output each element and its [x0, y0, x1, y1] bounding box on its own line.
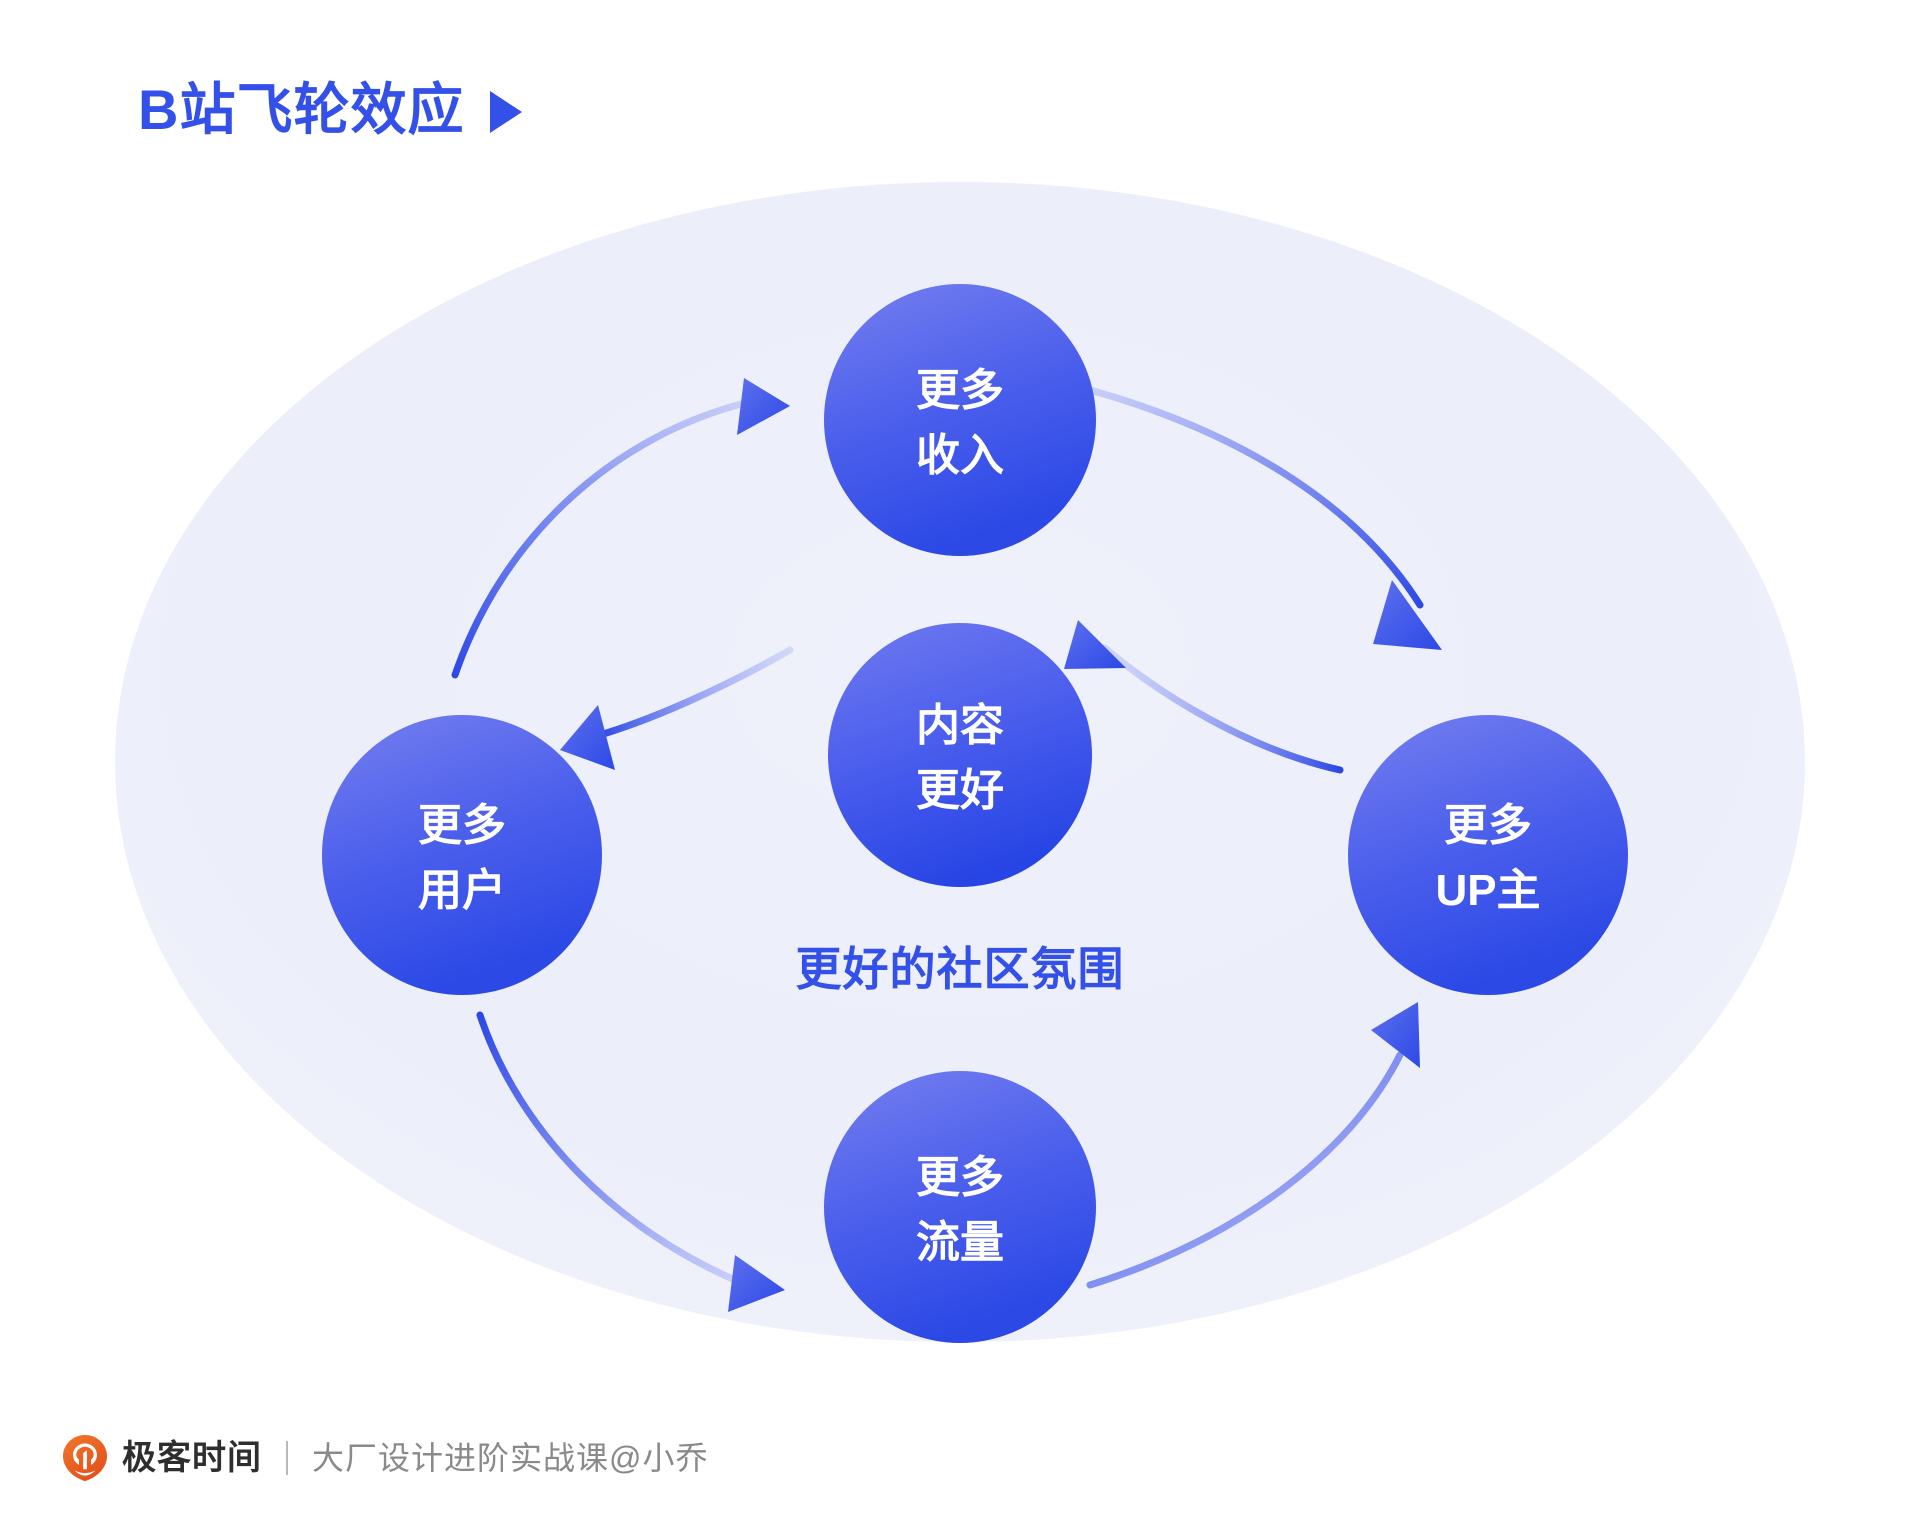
node-creators-line1: 更多 [1444, 801, 1532, 850]
node-content[interactable]: 内容 更好 [828, 623, 1092, 887]
footer-course-name: 大厂设计进阶实战课@小乔 [312, 1442, 709, 1474]
brand-name: 极客时间 [122, 1441, 262, 1475]
triangle-right-icon [490, 91, 522, 133]
flywheel-diagram: 更多 收入 内容 更好 更多 用户 更多 UP主 更多 流量 更好的社区氛围 [0, 150, 1920, 1380]
node-users-line1: 更多 [418, 801, 506, 850]
node-users[interactable]: 更多 用户 [322, 715, 602, 995]
geekbang-pin-logo-icon [62, 1434, 108, 1482]
center-caption: 更好的社区氛围 [796, 943, 1125, 995]
node-revenue[interactable]: 更多 收入 [824, 284, 1096, 556]
node-revenue-line2: 收入 [916, 431, 1004, 480]
node-traffic-line1: 更多 [916, 1153, 1004, 1202]
node-users-line2: 用户 [418, 866, 506, 915]
node-revenue-line1: 更多 [916, 366, 1004, 415]
node-traffic[interactable]: 更多 流量 [824, 1071, 1096, 1343]
node-content-line2: 更好 [916, 766, 1004, 815]
page-title-block: B站飞轮效应 [138, 82, 522, 138]
node-creators-line2: UP主 [1435, 866, 1540, 915]
node-content-line1: 内容 [916, 701, 1004, 750]
page-title: B站飞轮效应 [138, 82, 464, 138]
footer-divider [286, 1441, 288, 1475]
footer: 极客时间 大厂设计进阶实战课@小乔 [62, 1428, 709, 1488]
node-creators[interactable]: 更多 UP主 [1348, 715, 1628, 995]
node-traffic-line2: 流量 [916, 1218, 1004, 1267]
